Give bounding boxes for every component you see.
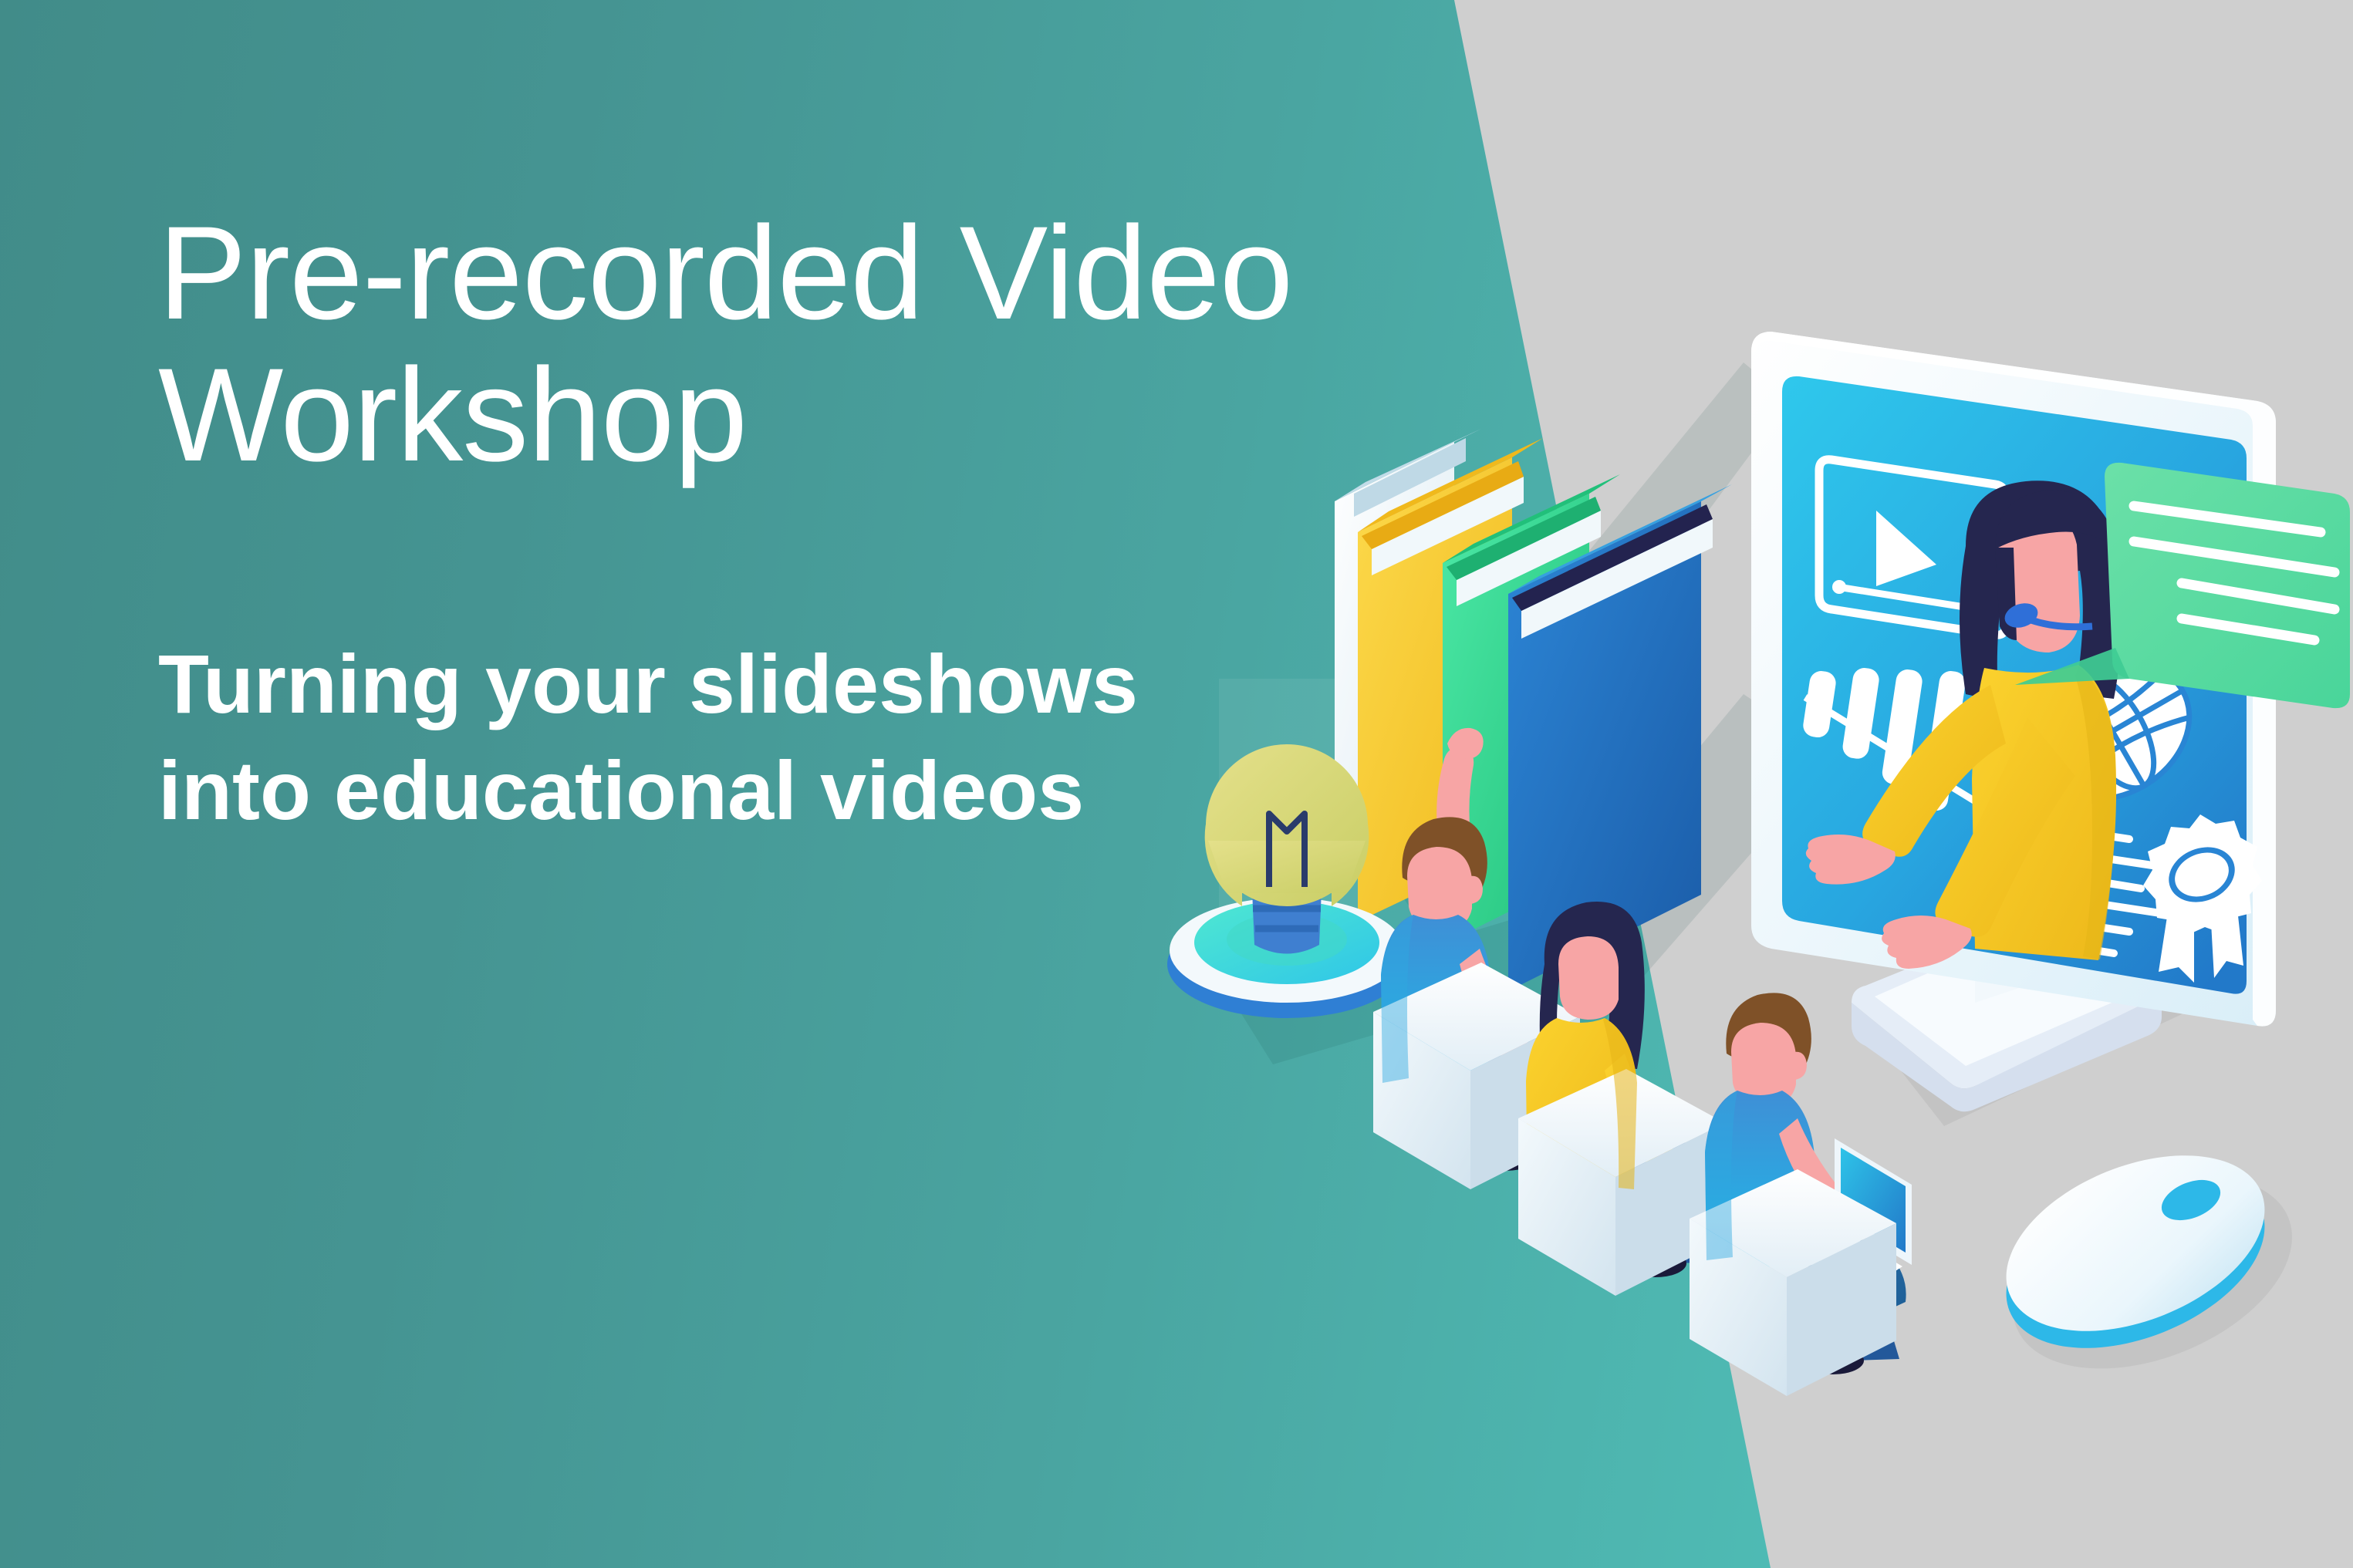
- slide-canvas: Pre-recorded Video Workshop Turning your…: [0, 0, 2353, 1568]
- page-subtitle: Turning your slideshows into educational…: [158, 631, 1508, 844]
- page-title: Pre-recorded Video Workshop: [158, 202, 1508, 486]
- text-block: Pre-recorded Video Workshop Turning your…: [158, 202, 1508, 845]
